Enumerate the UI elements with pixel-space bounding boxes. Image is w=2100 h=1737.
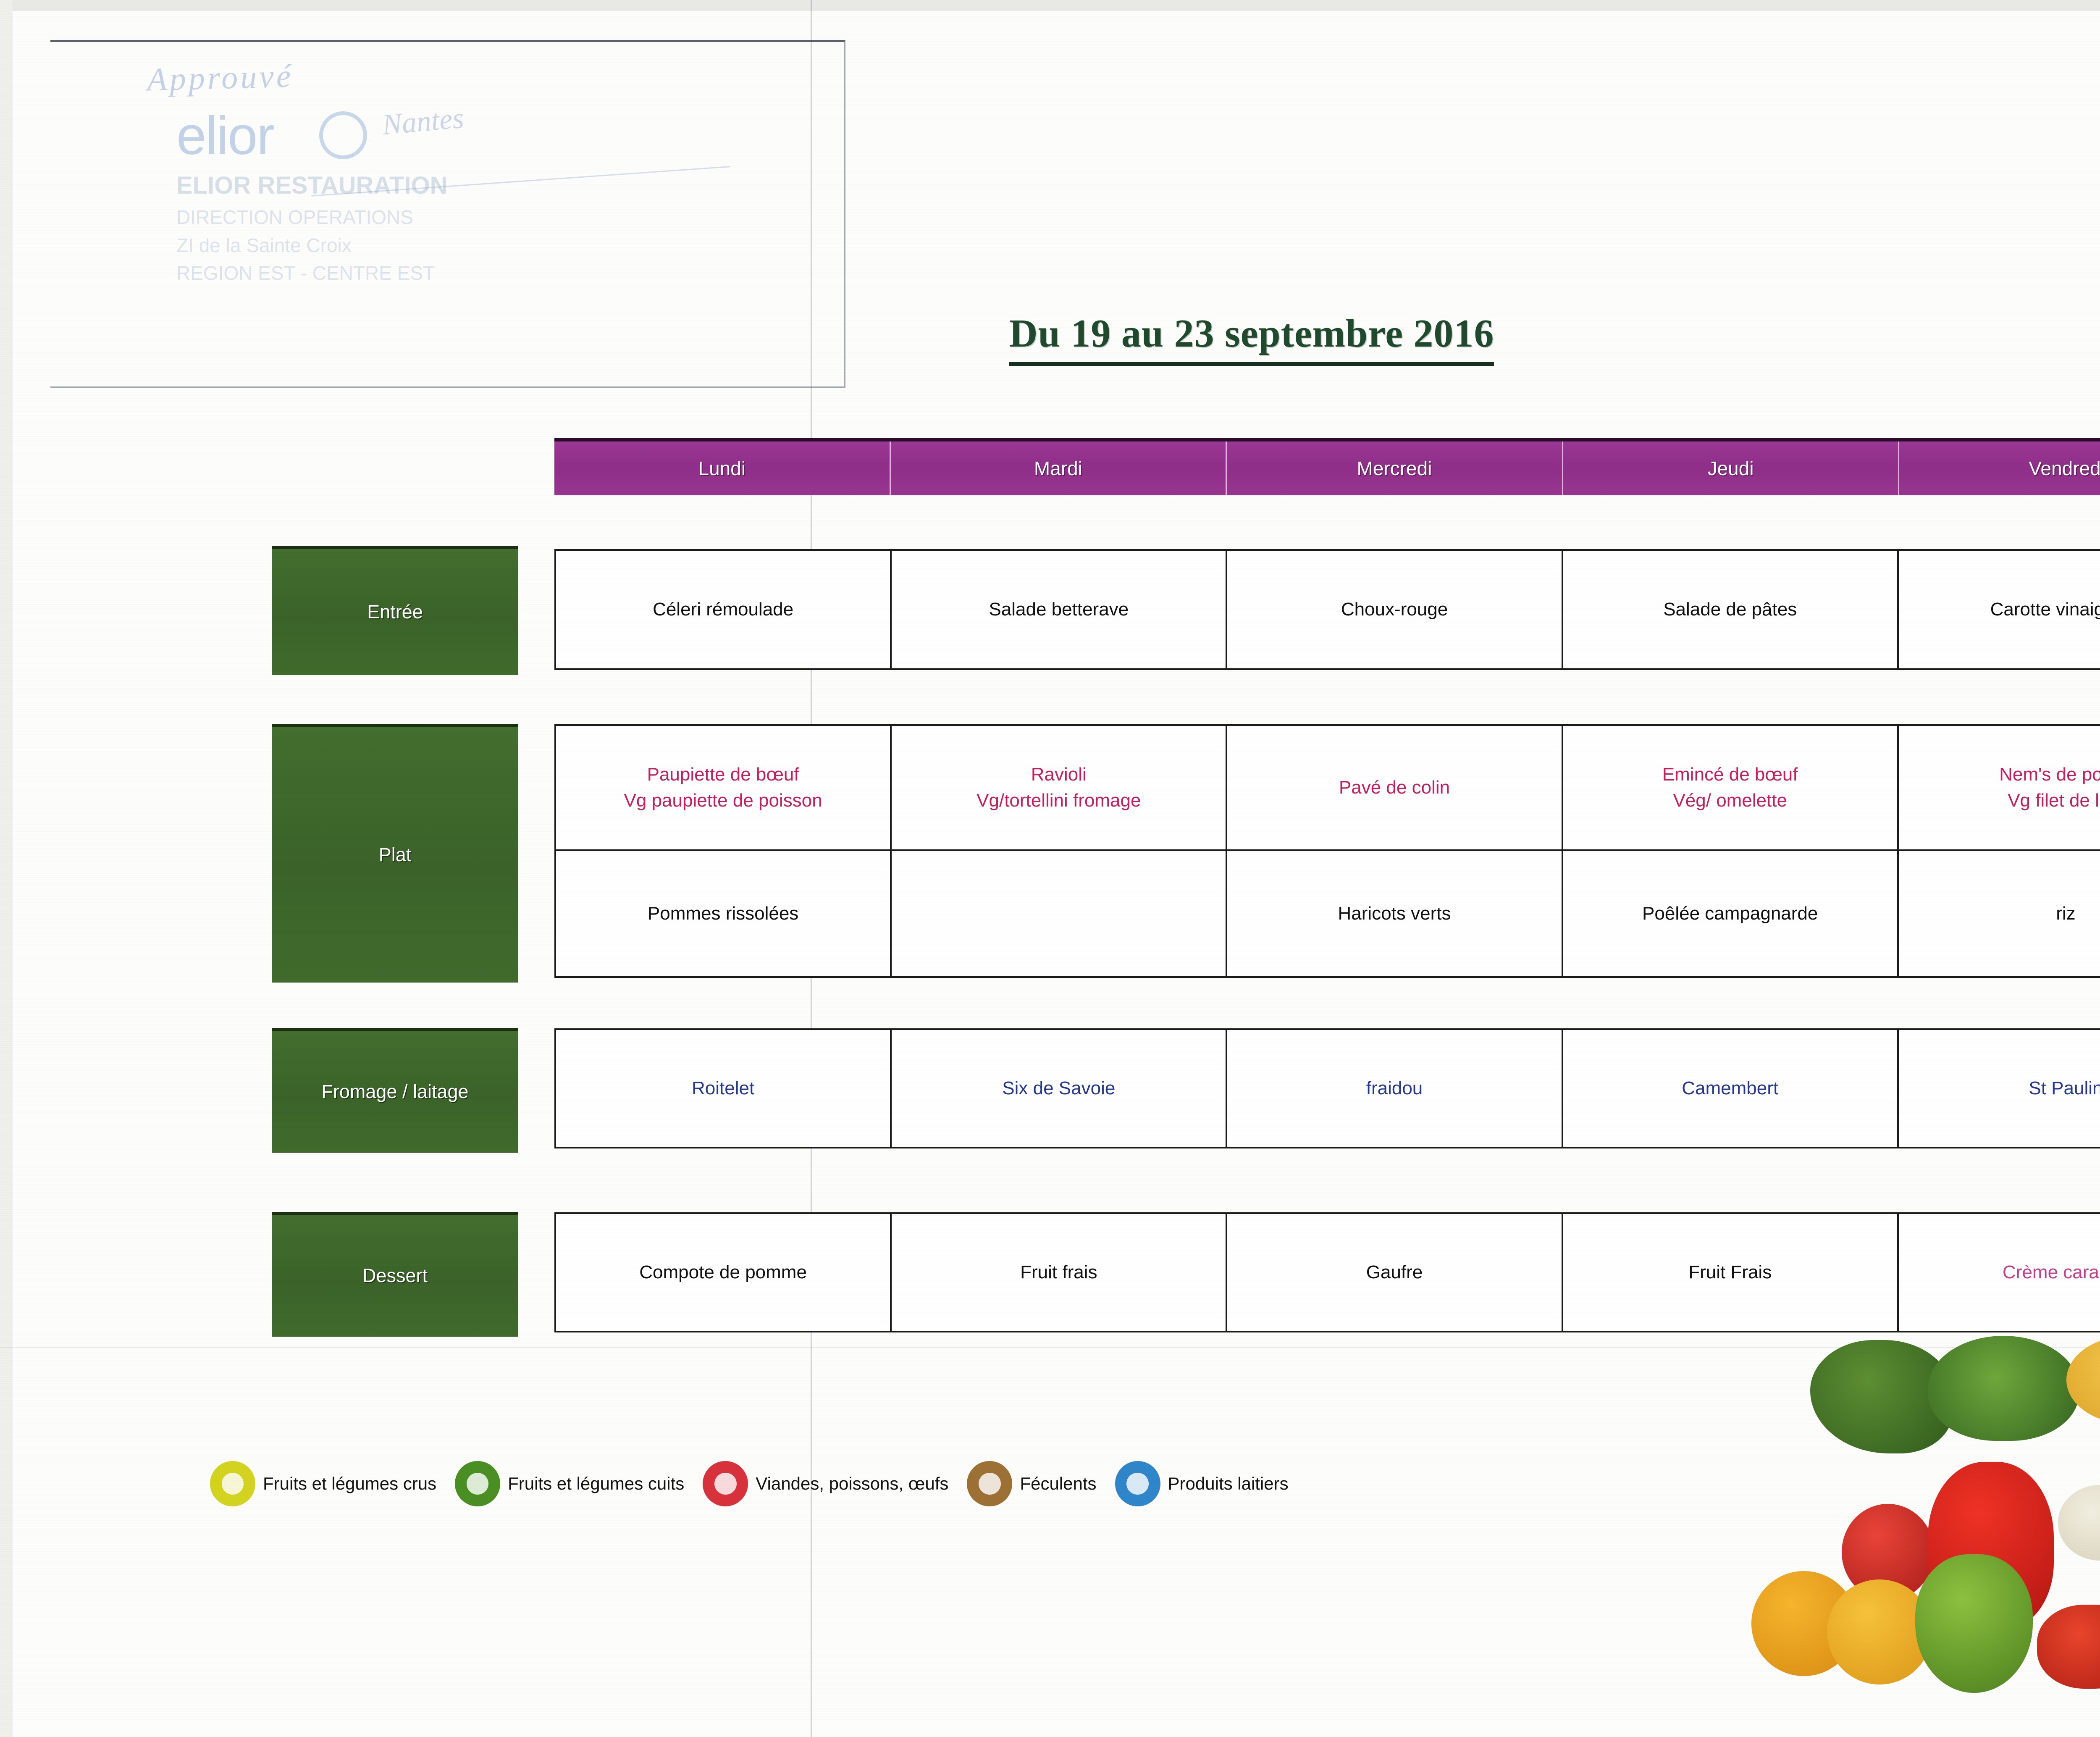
dish-name: riz [2056,901,2075,927]
dish-name: Gaufre [1366,1259,1423,1285]
menu-row-0: Céleri rémouladeSalade betteraveChoux-ro… [554,549,2100,670]
day-header-row: LundiMardiMercrediJeudiVendredi [554,438,2100,495]
row-label-2: Fromage / laitage [272,1028,518,1153]
letterhead-line: DIRECTION OPERATIONS [176,203,554,231]
dish-name: Carotte vinaigrette [1990,597,2100,623]
menu-cell[interactable]: Fruit frais [892,1214,1227,1331]
legend-label: Fruits et légumes cuits [508,1474,684,1494]
elior-logo-mark-icon [319,111,367,159]
menu-row-1: Paupiette de bœufVg paupiette de poisson… [554,724,2100,978]
menu-cell[interactable]: Emincé de bœufVég/ omelette [1563,726,1899,849]
menu-cell[interactable]: Céleri rémoulade [556,551,892,668]
legend-item: Féculents [967,1461,1096,1506]
starch-icon [967,1461,1012,1506]
tomatoes [2037,1605,2100,1689]
row-label-3: Dessert [272,1212,518,1337]
page-title: Du 19 au 23 septembre 2016 [937,311,1567,366]
menu-cell[interactable]: Nem's de pouletVg filet de lieu [1899,726,2100,849]
menu-cell[interactable]: Poêlée campagnarde [1563,851,1899,976]
letterhead-signature: Nantes [381,102,465,142]
legend-item: Produits laitiers [1115,1461,1289,1506]
fruit-cooked-icon [455,1461,500,1506]
legend-item: Fruits et légumes cuits [455,1461,684,1506]
menu-subrow: Paupiette de bœufVg paupiette de poisson… [556,726,2100,851]
day-header-jeudi[interactable]: Jeudi [1563,441,1900,495]
menu-row-2: RoiteletSix de SavoiefraidouCamembertSt … [554,1028,2100,1148]
menu-cell[interactable]: Salade de pâtes [1563,551,1899,668]
menu-cell[interactable]: Fruit Frais [1563,1214,1899,1331]
dish-name: Céleri rémoulade [653,597,793,623]
dish-name: Camembert [1682,1075,1778,1101]
dish-name: Paupiette de bœuf [647,762,799,788]
dish-name: Compote de pomme [639,1259,807,1285]
dish-name: Fruit frais [1020,1259,1097,1285]
legend-item: Viandes, poissons, œufs [703,1461,948,1506]
menu-cell[interactable]: fraidou [1227,1030,1563,1147]
letterhead-handwriting: Approuvé [147,57,294,98]
dish-name: Salade betterave [989,597,1129,623]
day-header-lundi[interactable]: Lundi [554,441,891,495]
menu-document-page: Approuvé elior Nantes ELIOR RESTAURATION… [0,0,2100,1737]
menu-cell[interactable]: Compote de pomme [556,1214,892,1331]
dish-name: Crème caramel [2003,1259,2100,1285]
menu-cell[interactable]: Gaufre [1227,1214,1563,1331]
dish-name: Roitelet [692,1075,754,1101]
scan-edge-top [0,0,2100,11]
menu-cell[interactable]: RavioliVg/tortellini fromage [892,726,1227,849]
legend-label: Fruits et légumes crus [263,1474,436,1494]
legend: Fruits et légumes crusFruits et légumes … [210,1461,1289,1506]
menu-cell[interactable]: Six de Savoie [892,1030,1227,1147]
page-title-text: Du 19 au 23 septembre 2016 [1009,311,1494,366]
menu-row-3: Compote de pommeFruit fraisGaufreFruit F… [554,1212,2100,1332]
menu-cell[interactable]: Crème caramel [1899,1214,2100,1331]
menu-cell[interactable]: Carotte vinaigrette [1899,551,2100,668]
letterhead-line: ZI de la Sainte Croix [176,231,554,260]
menu-cell[interactable]: St Paulin [1899,1030,2100,1147]
dish-name: Pommes rissolées [648,901,798,927]
menu-cell[interactable]: Choux-rouge [1227,551,1563,668]
dairy-icon [1115,1461,1160,1506]
legend-label: Produits laitiers [1168,1474,1289,1494]
day-header-mercredi[interactable]: Mercredi [1227,441,1563,495]
letterhead-stamp: Approuvé elior Nantes ELIOR RESTAURATION… [50,40,845,388]
menu-cell[interactable]: Pommes rissolées [556,851,892,976]
dish-name: Ravioli [1031,762,1087,788]
green-pepper [1915,1554,2033,1693]
dish-name: Six de Savoie [1002,1075,1115,1101]
row-label-0: Entrée [272,546,518,675]
dish-name: fraidou [1366,1075,1423,1101]
menu-cell[interactable]: riz [1899,851,2100,976]
dish-name: Pavé de colin [1339,775,1450,801]
dish-name: Poêlée campagnarde [1642,901,1818,927]
day-header-vendredi[interactable]: Vendredi [1899,441,2100,495]
menu-cell[interactable]: Salade betterave [892,551,1227,668]
menu-cell[interactable] [892,851,1227,976]
menu-cell[interactable]: Roitelet [556,1030,892,1147]
dish-name: Salade de pâtes [1663,597,1797,623]
legend-label: Féculents [1020,1474,1096,1494]
fruit-raw-icon [210,1461,255,1506]
letterhead-address-block: ELIOR RESTAURATION DIRECTION OPERATIONS … [176,168,554,287]
dish-name: Vg paupiette de poisson [624,788,822,814]
letterhead-line: REGION EST - CENTRE EST [176,259,554,287]
cauliflower [2058,1485,2100,1561]
day-header-mardi[interactable]: Mardi [891,441,1227,495]
row-label-1: Plat [272,724,518,983]
legend-item: Fruits et légumes crus [210,1461,436,1506]
lettuce-2 [1928,1336,2079,1441]
dish-name: Emincé de bœuf [1662,762,1798,788]
fruits-and-vegetables-photo [1747,1336,2100,1705]
scan-edge-left [0,0,13,1737]
dish-name: Haricots verts [1338,901,1451,927]
menu-cell[interactable]: Pavé de colin [1227,726,1563,849]
dish-name: Nem's de poulet [1999,762,2100,788]
dish-name: Fruit Frais [1688,1259,1772,1285]
menu-subrow: Pommes rissoléesHaricots vertsPoêlée cam… [556,851,2100,976]
menu-cell[interactable]: Camembert [1563,1030,1899,1147]
dish-name: Vg filet de lieu [2008,788,2100,814]
dish-name: Vég/ omelette [1673,788,1787,814]
menu-cell[interactable]: Paupiette de bœufVg paupiette de poisson [556,726,892,849]
elior-logo: elior [176,105,274,167]
meat-fish-egg-icon [703,1461,748,1506]
dish-name: St Paulin [2029,1075,2100,1101]
dish-name: Choux-rouge [1341,597,1448,623]
menu-cell[interactable]: Haricots verts [1227,851,1563,976]
letterhead-line: ELIOR RESTAURATION [176,168,554,203]
legend-label: Viandes, poissons, œufs [756,1474,948,1494]
dish-name: Vg/tortellini fromage [976,788,1141,814]
